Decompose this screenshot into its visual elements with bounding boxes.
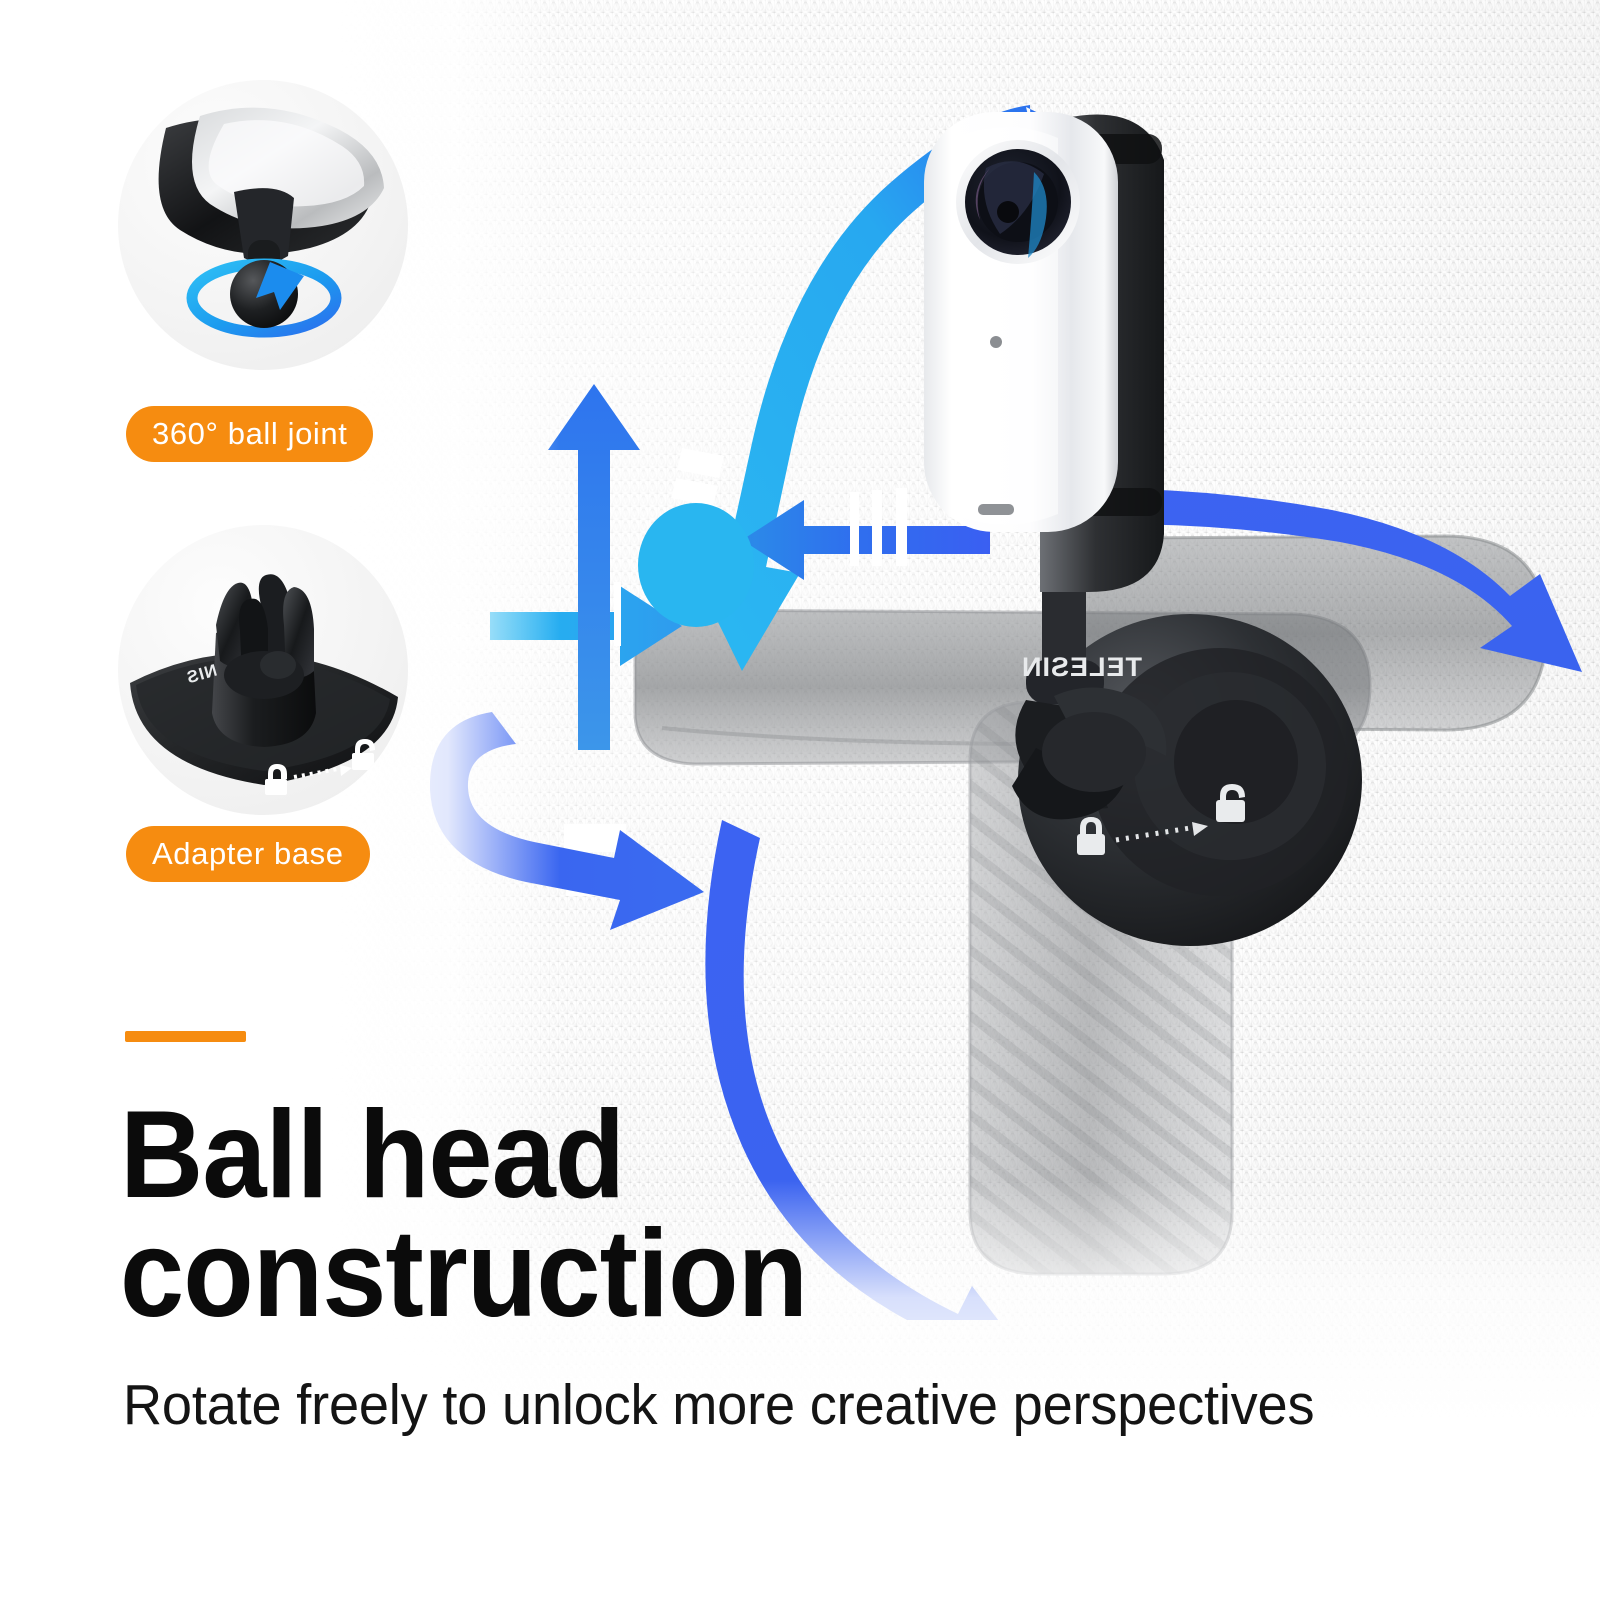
badge-ball-joint: 360° ball joint: [126, 406, 373, 462]
badge-adapter-base-label: Adapter base: [152, 836, 344, 872]
action-camera: [924, 112, 1164, 592]
headline-line-2: construction: [120, 1215, 994, 1334]
pivot-hub-circle: [638, 503, 754, 627]
mount-brand-mark: TELESIN: [1021, 652, 1142, 682]
product-feature-image: TELESIN: [0, 0, 1600, 1600]
badge-adapter-base: Adapter base: [126, 826, 370, 882]
ball-joint-illustration: [118, 80, 408, 370]
headline-line-1: Ball head: [120, 1096, 994, 1215]
accent-bar: [125, 1031, 246, 1042]
feature-thumbnail-ball-joint[interactable]: [118, 80, 408, 370]
svg-text:TELESIN: TELESIN: [1021, 652, 1142, 682]
page-subtitle: Rotate freely to unlock more creative pe…: [123, 1374, 1472, 1437]
feature-thumbnail-adapter-base[interactable]: NIS: [118, 525, 408, 815]
adapter-base-illustration: NIS: [118, 525, 408, 815]
badge-ball-joint-label: 360° ball joint: [152, 416, 347, 452]
page-title: Ball head construction: [120, 1096, 994, 1334]
